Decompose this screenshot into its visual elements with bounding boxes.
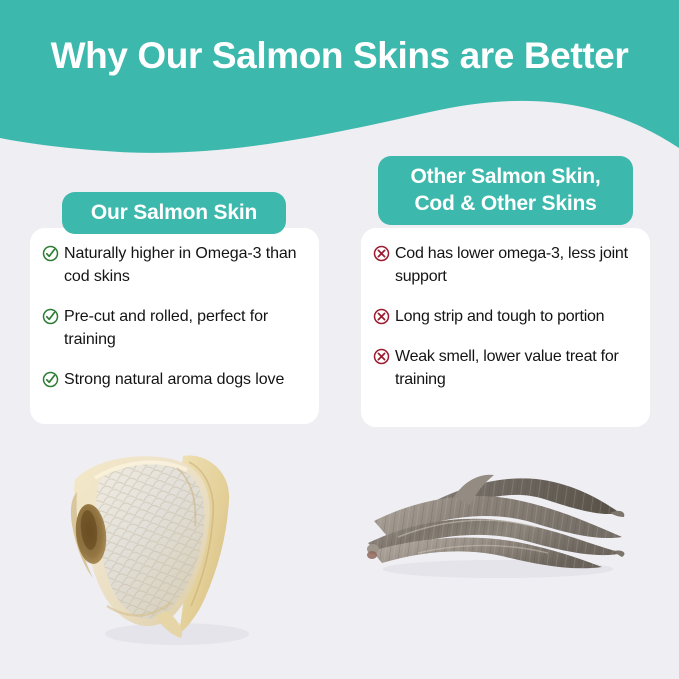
cod-skin-strips-photo [358, 455, 628, 585]
list-item-label: Cod has lower omega-3, less joint suppor… [395, 242, 636, 288]
list-item: Weak smell, lower value treat for traini… [373, 345, 636, 391]
list-item-label: Long strip and tough to portion [395, 305, 604, 328]
list-item: Long strip and tough to portion [373, 305, 636, 328]
list-item: Pre-cut and rolled, perfect for training [42, 305, 301, 351]
x-circle-icon [373, 348, 390, 365]
salmon-skin-roll-photo [55, 438, 295, 653]
check-circle-icon [42, 308, 59, 325]
list-item-label: Weak smell, lower value treat for traini… [395, 345, 636, 391]
list-item: Strong natural aroma dogs love [42, 368, 301, 391]
list-item-label: Pre-cut and rolled, perfect for training [64, 305, 301, 351]
our-salmon-skin-card: Naturally higher in Omega-3 than cod ski… [30, 228, 319, 424]
our-salmon-skin-pill-label: Our Salmon Skin [62, 192, 286, 234]
list-item: Naturally higher in Omega-3 than cod ski… [42, 242, 301, 288]
other-skins-card: Cod has lower omega-3, less joint suppor… [361, 228, 650, 427]
list-item-label: Naturally higher in Omega-3 than cod ski… [64, 242, 301, 288]
check-circle-icon [42, 245, 59, 262]
x-circle-icon [373, 308, 390, 325]
other-skins-pill-line-2: Cod & Other Skins [394, 190, 617, 217]
list-item: Cod has lower omega-3, less joint suppor… [373, 242, 636, 288]
other-skins-pill: Other Salmon Skin, Cod & Other Skins [378, 156, 633, 225]
x-circle-icon [373, 245, 390, 262]
other-skins-pill-line-1: Other Salmon Skin, [394, 163, 617, 190]
list-item-label: Strong natural aroma dogs love [64, 368, 284, 391]
check-circle-icon [42, 371, 59, 388]
